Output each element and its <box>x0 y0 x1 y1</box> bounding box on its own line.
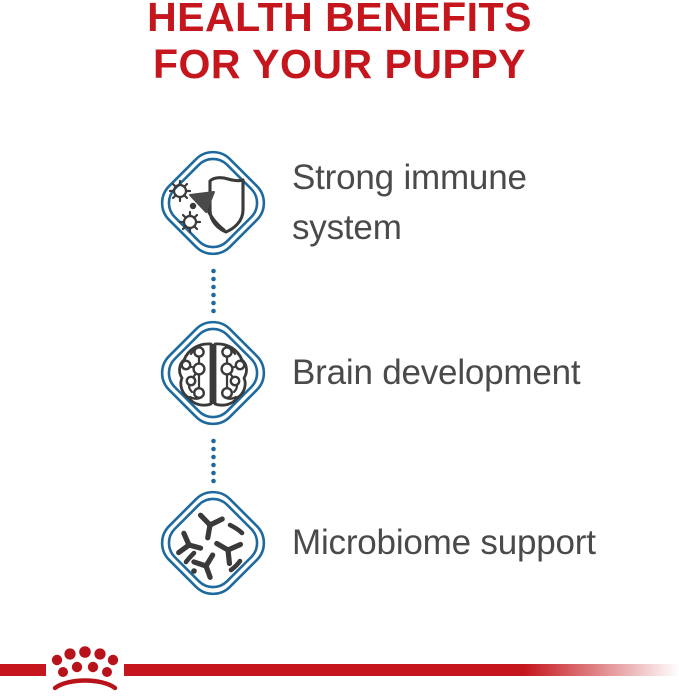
benefit-row: Brain development <box>0 308 679 438</box>
benefit-label: Microbiome support <box>292 518 596 568</box>
page-title-line-1: HEALTH BENEFITS <box>0 0 679 41</box>
benefit-row: Strong immune system <box>0 138 679 268</box>
shield-germs-icon <box>148 138 278 268</box>
benefit-label: Brain development <box>292 348 580 398</box>
page-title-line-2: FOR YOUR PUPPY <box>0 41 679 88</box>
benefit-label: Strong immune system <box>292 153 527 253</box>
page-title: HEALTH BENEFITS FOR YOUR PUPPY <box>0 0 679 88</box>
brain-network-icon <box>148 308 278 438</box>
benefit-row: Microbiome support <box>0 478 679 608</box>
bacteria-microbiome-icon <box>148 478 278 608</box>
benefits-list: Strong immune system <box>0 138 679 608</box>
royal-canin-crown-logo <box>0 636 679 696</box>
